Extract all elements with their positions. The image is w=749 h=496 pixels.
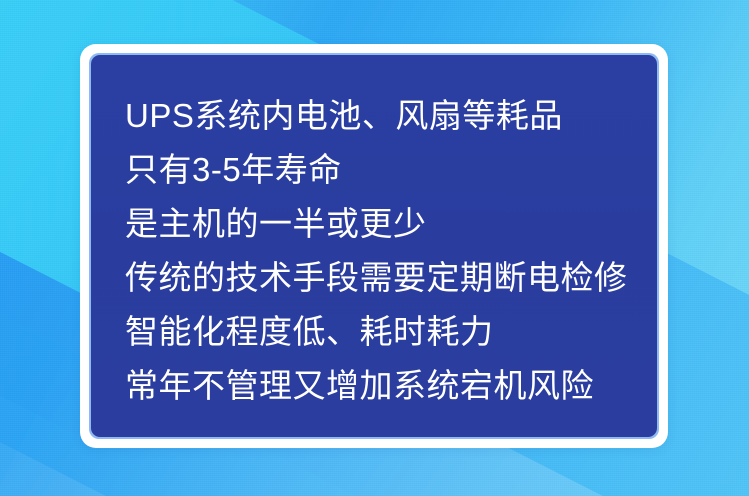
message-line-6: 常年不管理又增加系统宕机风险 <box>125 359 627 413</box>
message-line-3: 是主机的一半或更少 <box>125 197 627 251</box>
message-line-5: 智能化程度低、耗时耗力 <box>125 305 627 359</box>
message-line-2: 只有3-5年寿命 <box>125 143 627 197</box>
message-card-body: UPS系统内电池、风扇等耗品 只有3-5年寿命 是主机的一半或更少 传统的技术手… <box>91 55 657 437</box>
message-card-frame: UPS系统内电池、风扇等耗品 只有3-5年寿命 是主机的一半或更少 传统的技术手… <box>80 44 668 448</box>
message-card-inner-edge: UPS系统内电池、风扇等耗品 只有3-5年寿命 是主机的一半或更少 传统的技术手… <box>89 53 659 439</box>
message-list: UPS系统内电池、风扇等耗品 只有3-5年寿命 是主机的一半或更少 传统的技术手… <box>125 89 627 413</box>
message-line-4: 传统的技术手段需要定期断电检修 <box>125 251 627 305</box>
message-line-1: UPS系统内电池、风扇等耗品 <box>125 89 627 143</box>
slide-canvas: UPS系统内电池、风扇等耗品 只有3-5年寿命 是主机的一半或更少 传统的技术手… <box>0 0 749 496</box>
